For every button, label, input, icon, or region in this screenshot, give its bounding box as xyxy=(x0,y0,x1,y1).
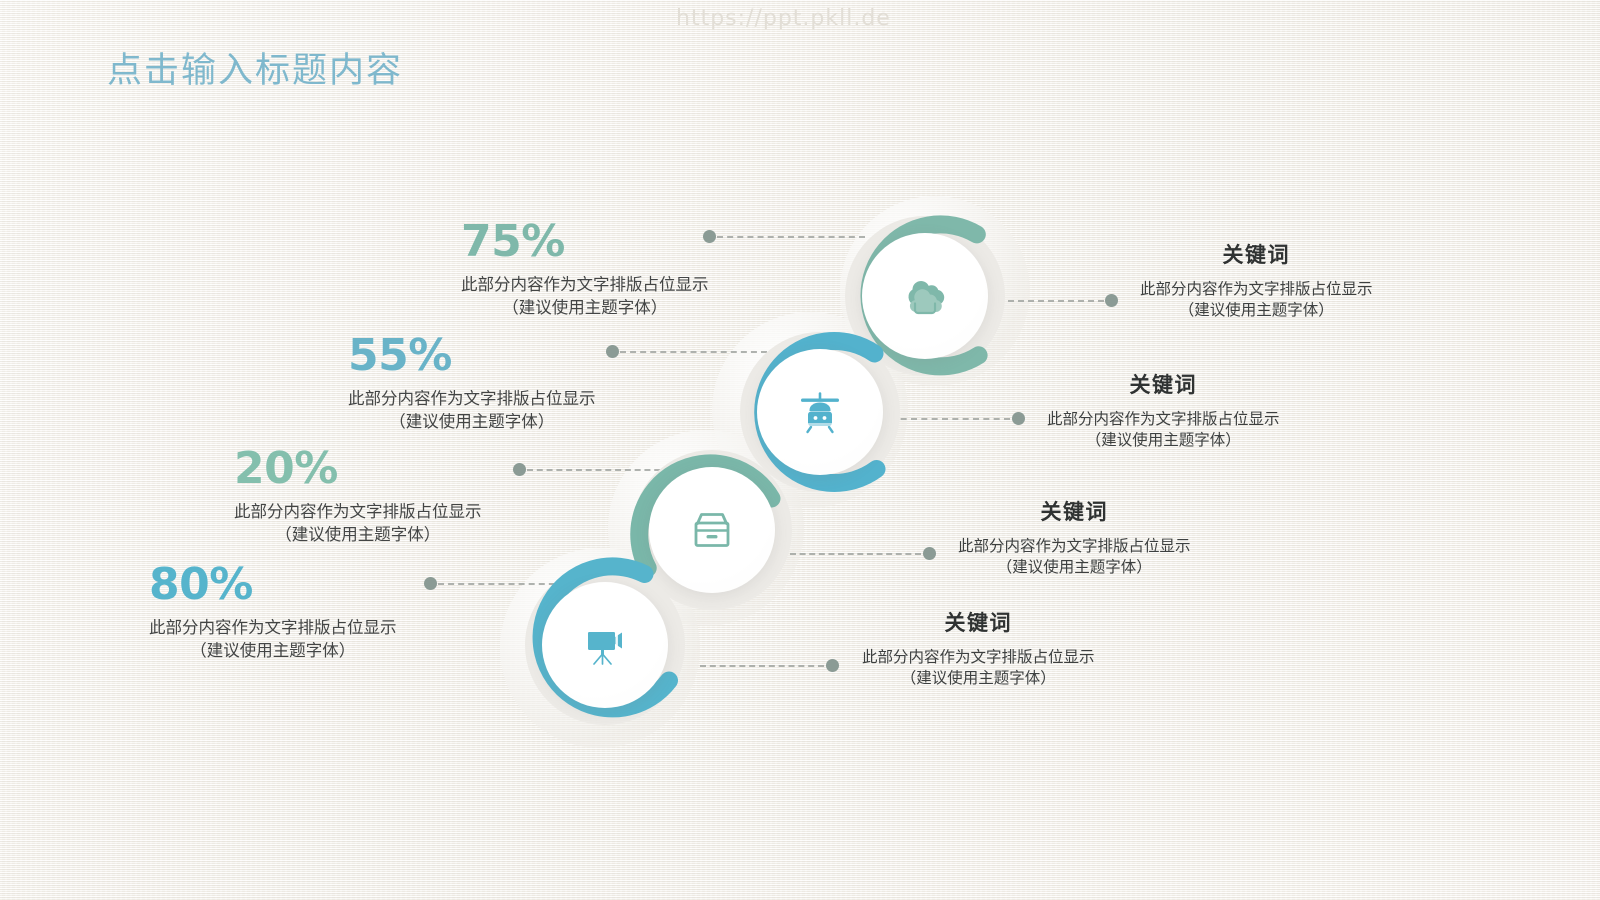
keyword-block-2: 关键词 此部分内容作为文字排版占位显示 （建议使用主题字体） xyxy=(1047,375,1280,452)
watermark-url: https://ppt.pkll.de xyxy=(676,6,891,31)
inbox-archive-icon xyxy=(687,508,737,552)
stat-block-55: 55% 此部分内容作为文字排版占位显示 （建议使用主题字体） xyxy=(348,334,596,434)
keyword-description-line1: 此部分内容作为文字排版占位显示 xyxy=(1140,279,1373,300)
connector-line-right-4 xyxy=(700,665,824,667)
page-title: 点击输入标题内容 xyxy=(107,42,403,93)
stat-description: 此部分内容作为文字排版占位显示 （建议使用主题字体） xyxy=(461,273,709,320)
connector-dot-right-3 xyxy=(923,547,936,560)
stat-description-line2: （建议使用主题字体） xyxy=(234,523,482,546)
cloud-upload-icon xyxy=(899,273,951,319)
keyword-heading: 关键词 xyxy=(862,613,1095,634)
keyword-description-line1: 此部分内容作为文字排版占位显示 xyxy=(1047,409,1280,430)
connector-dot-left-4 xyxy=(424,577,437,590)
stat-description: 此部分内容作为文字排版占位显示 （建议使用主题字体） xyxy=(149,616,397,663)
stat-description-line1: 此部分内容作为文字排版占位显示 xyxy=(348,387,596,410)
keyword-heading: 关键词 xyxy=(1047,375,1280,396)
keyword-block-1: 关键词 此部分内容作为文字排版占位显示 （建议使用主题字体） xyxy=(1140,245,1373,322)
connector-dot-right-1 xyxy=(1105,294,1118,307)
connector-dot-left-2 xyxy=(606,345,619,358)
stat-description-line2: （建议使用主题字体） xyxy=(348,410,596,433)
connector-dot-left-3 xyxy=(513,463,526,476)
keyword-description-line2: （建议使用主题字体） xyxy=(862,668,1095,689)
stat-block-80: 80% 此部分内容作为文字排版占位显示 （建议使用主题字体） xyxy=(149,563,397,663)
stat-block-20: 20% 此部分内容作为文字排版占位显示 （建议使用主题字体） xyxy=(234,447,482,547)
stat-percent: 55% xyxy=(348,334,596,378)
stat-description: 此部分内容作为文字排版占位显示 （建议使用主题字体） xyxy=(348,387,596,434)
keyword-description: 此部分内容作为文字排版占位显示 （建议使用主题字体） xyxy=(958,536,1191,579)
stat-percent: 20% xyxy=(234,447,482,491)
keyword-description-line2: （建议使用主题字体） xyxy=(958,557,1191,578)
stat-description-line1: 此部分内容作为文字排版占位显示 xyxy=(149,616,397,639)
keyword-block-3: 关键词 此部分内容作为文字排版占位显示 （建议使用主题字体） xyxy=(958,502,1191,579)
stat-block-75: 75% 此部分内容作为文字排版占位显示 （建议使用主题字体） xyxy=(461,220,709,320)
stat-description-line1: 此部分内容作为文字排版占位显示 xyxy=(461,273,709,296)
connector-line-right-3 xyxy=(790,553,921,555)
stat-percent: 75% xyxy=(461,220,709,264)
keyword-description: 此部分内容作为文字排版占位显示 （建议使用主题字体） xyxy=(1140,279,1373,322)
keyword-description: 此部分内容作为文字排版占位显示 （建议使用主题字体） xyxy=(1047,409,1280,452)
connector-dot-right-4 xyxy=(826,659,839,672)
connector-dot-right-2 xyxy=(1012,412,1025,425)
video-projector-icon xyxy=(579,622,631,668)
stat-description-line2: （建议使用主题字体） xyxy=(149,639,397,662)
stat-description-line2: （建议使用主题字体） xyxy=(461,296,709,319)
keyword-description: 此部分内容作为文字排版占位显示 （建议使用主题字体） xyxy=(862,647,1095,690)
keyword-heading: 关键词 xyxy=(1140,245,1373,266)
tram-icon xyxy=(794,387,846,437)
stat-description: 此部分内容作为文字排版占位显示 （建议使用主题字体） xyxy=(234,500,482,547)
keyword-block-4: 关键词 此部分内容作为文字排版占位显示 （建议使用主题字体） xyxy=(862,613,1095,690)
stat-percent: 80% xyxy=(149,563,397,607)
node-video[interactable] xyxy=(525,565,685,725)
keyword-heading: 关键词 xyxy=(958,502,1191,523)
slide-canvas: https://ppt.pkll.de 点击输入标题内容 xyxy=(0,0,1600,900)
node-disc xyxy=(542,582,668,708)
keyword-description-line2: （建议使用主题字体） xyxy=(1140,300,1373,321)
keyword-description-line1: 此部分内容作为文字排版占位显示 xyxy=(958,536,1191,557)
stat-description-line1: 此部分内容作为文字排版占位显示 xyxy=(234,500,482,523)
keyword-description-line2: （建议使用主题字体） xyxy=(1047,430,1280,451)
keyword-description-line1: 此部分内容作为文字排版占位显示 xyxy=(862,647,1095,668)
